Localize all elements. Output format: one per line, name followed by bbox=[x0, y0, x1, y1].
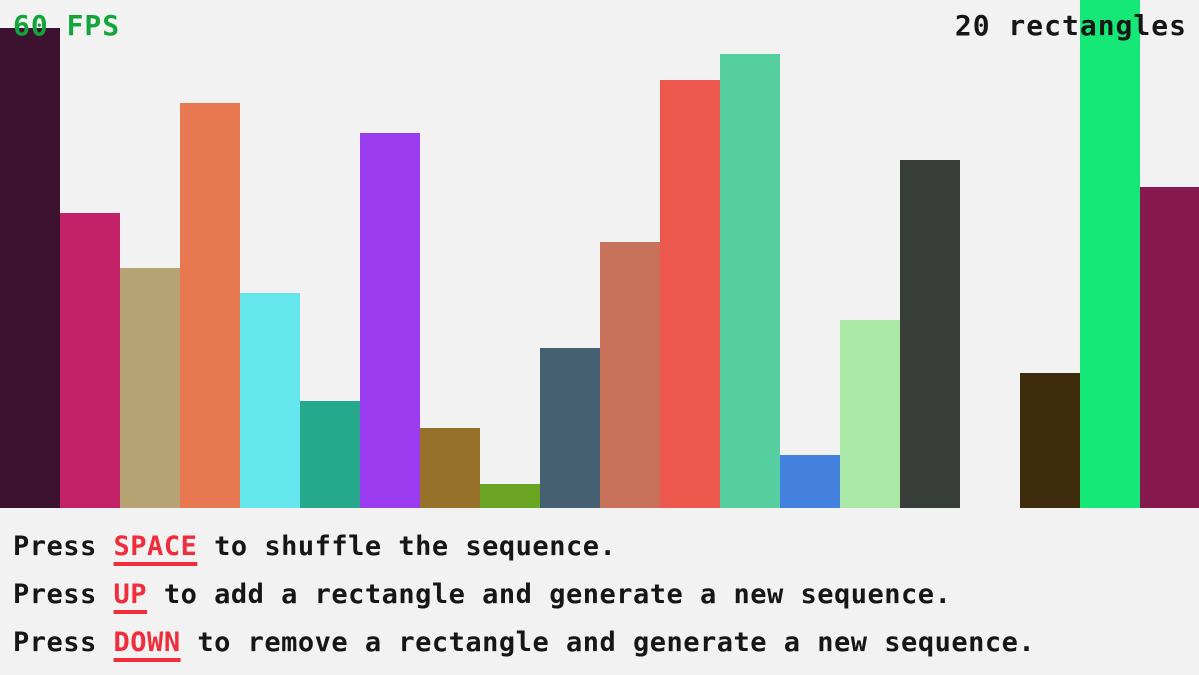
instruction-line-add: Press UP to add a rectangle and generate… bbox=[13, 581, 951, 608]
instructions-panel: Press SPACE to shuffle the sequence. Pre… bbox=[0, 508, 1199, 675]
bar-11 bbox=[600, 242, 660, 508]
bar-16 bbox=[900, 160, 960, 508]
bar-1 bbox=[0, 28, 60, 508]
bar-chart bbox=[0, 0, 1199, 508]
bar-6 bbox=[300, 401, 360, 508]
bar-5 bbox=[240, 293, 300, 508]
bar-2 bbox=[60, 213, 120, 508]
bar-7 bbox=[360, 133, 420, 508]
fps-counter: 60 FPS bbox=[13, 12, 120, 40]
key-up[interactable]: UP bbox=[114, 579, 148, 610]
instruction-prefix: Press bbox=[13, 579, 114, 610]
instruction-suffix: to add a rectangle and generate a new se… bbox=[147, 579, 951, 610]
instruction-suffix: to remove a rectangle and generate a new… bbox=[181, 627, 1036, 658]
bar-8 bbox=[420, 428, 480, 508]
bar-14 bbox=[780, 455, 840, 508]
bar-9 bbox=[480, 484, 540, 508]
bar-3 bbox=[120, 268, 180, 508]
instruction-line-shuffle: Press SPACE to shuffle the sequence. bbox=[13, 533, 616, 560]
bar-15 bbox=[840, 320, 900, 508]
bar-13 bbox=[720, 54, 780, 508]
instruction-line-remove: Press DOWN to remove a rectangle and gen… bbox=[13, 629, 1035, 656]
bar-18 bbox=[1020, 373, 1080, 508]
instruction-suffix: to shuffle the sequence. bbox=[197, 531, 616, 562]
rectangle-count-label: 20 rectangles bbox=[955, 12, 1187, 40]
bar-19 bbox=[1080, 0, 1140, 508]
bar-10 bbox=[540, 348, 600, 508]
instruction-prefix: Press bbox=[13, 531, 114, 562]
game-canvas: 60 FPS 20 rectangles Press SPACE to shuf… bbox=[0, 0, 1199, 675]
instruction-prefix: Press bbox=[13, 627, 114, 658]
bar-12 bbox=[660, 80, 720, 508]
key-space[interactable]: SPACE bbox=[114, 531, 198, 562]
key-down[interactable]: DOWN bbox=[114, 627, 181, 658]
bar-4 bbox=[180, 103, 240, 508]
bar-20 bbox=[1140, 187, 1199, 508]
